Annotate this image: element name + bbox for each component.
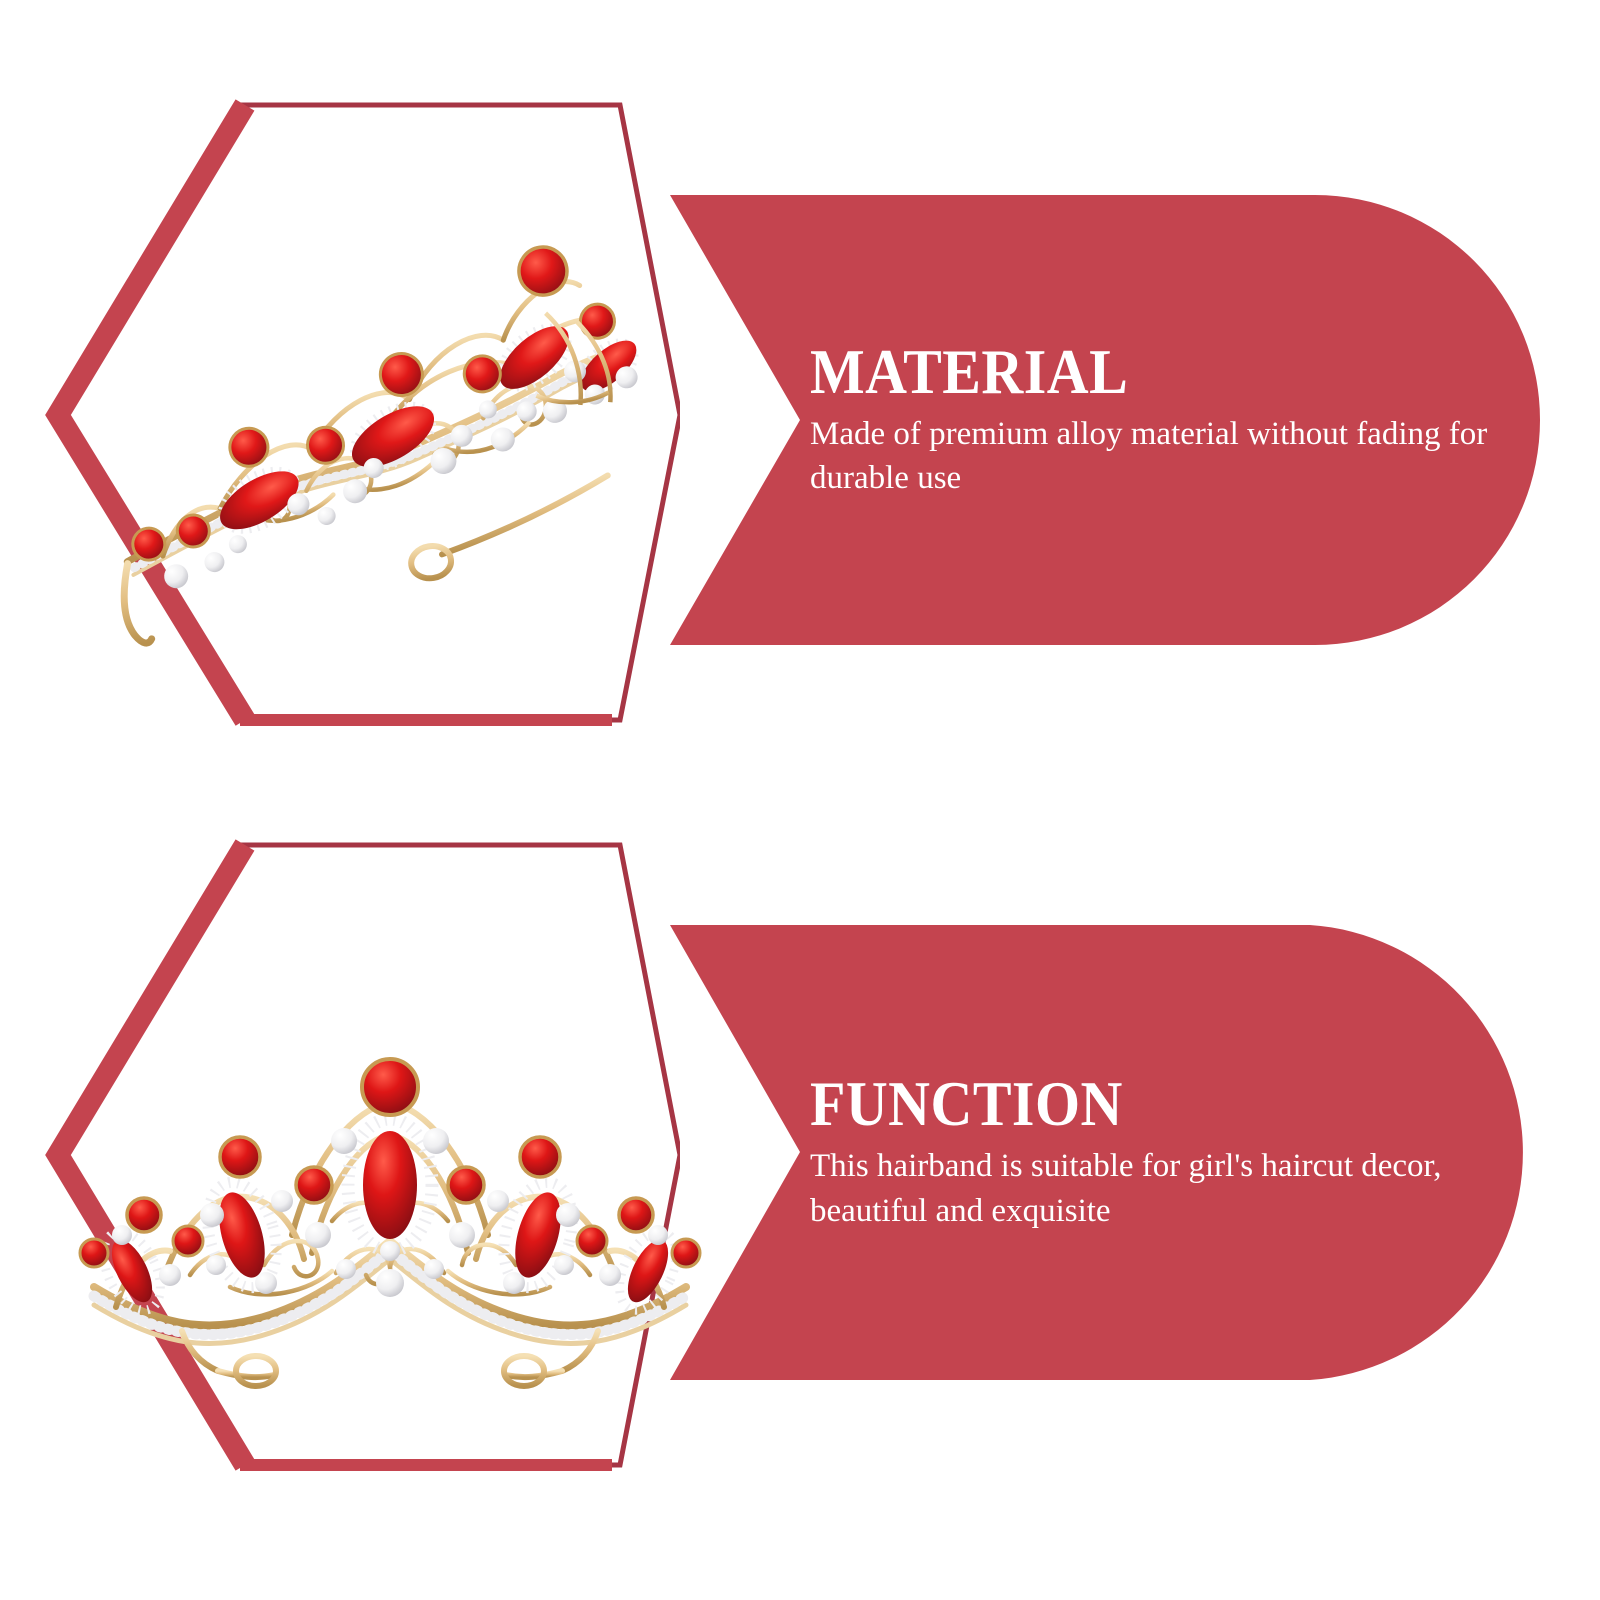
info-banner-function: FUNCTION This hairband is suitable for g… [660,925,1540,1380]
section-function: FUNCTION This hairband is suitable for g… [0,820,1600,1520]
infographic-canvas: MATERIAL Made of premium alloy material … [0,0,1600,1600]
info-banner-material: MATERIAL Made of premium alloy material … [660,195,1540,645]
banner-text-block-material: MATERIAL Made of premium alloy material … [810,195,1510,645]
section-material: MATERIAL Made of premium alloy material … [0,70,1600,770]
section-description-function: This hairband is suitable for girl's hai… [810,1144,1500,1232]
section-description-material: Made of premium alloy material without f… [810,412,1500,500]
hexagon-outline-icon [40,820,680,1500]
hexagon-frame-function [40,820,680,1500]
section-title-function: FUNCTION [810,1072,1454,1136]
hexagon-frame-material [40,70,680,750]
banner-text-block-function: FUNCTION This hairband is suitable for g… [810,925,1510,1380]
section-title-material: MATERIAL [810,340,1454,404]
hexagon-outline-icon [40,70,680,750]
